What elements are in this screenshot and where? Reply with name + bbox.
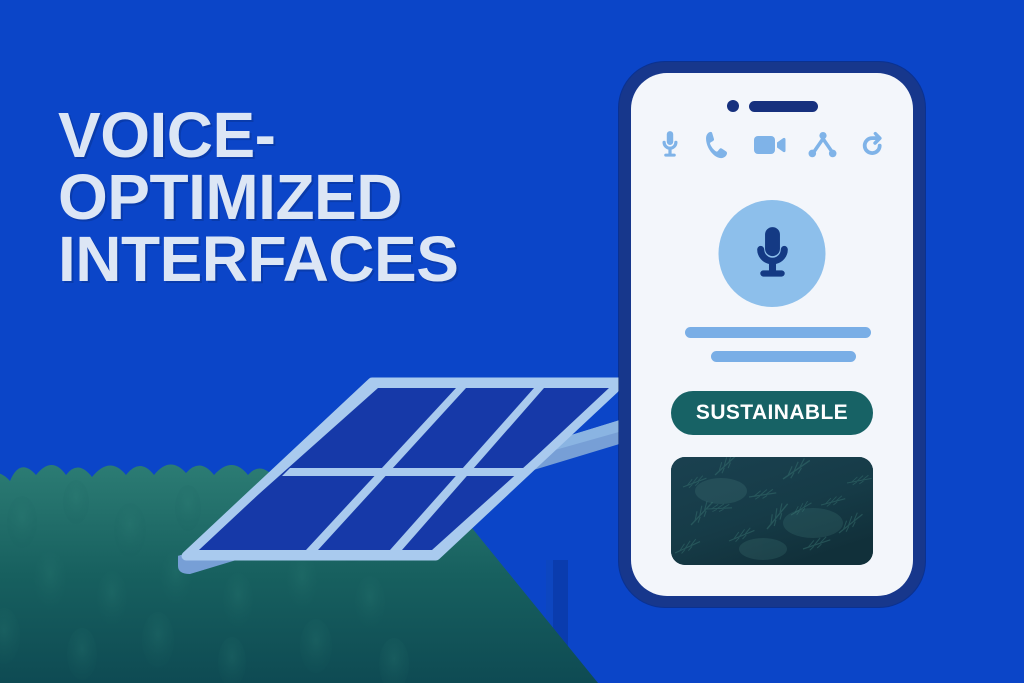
title-line-2: OPTIMIZED <box>58 166 598 228</box>
microphone-icon <box>747 225 797 283</box>
sustainable-pill-label: SUSTAINABLE <box>696 401 848 425</box>
text-line-1 <box>685 327 871 338</box>
foliage-image-card[interactable] <box>671 457 873 565</box>
video-camera-icon[interactable] <box>754 133 786 157</box>
app-toolbar <box>631 130 913 160</box>
camera-dot-icon <box>727 100 739 112</box>
text-line-2 <box>711 351 856 362</box>
voice-record-button[interactable] <box>719 200 826 307</box>
title-line-3: INTERFACES <box>58 228 598 290</box>
poster-canvas: VOICE- OPTIMIZED INTERFACES <box>0 0 1024 683</box>
phone-call-icon[interactable] <box>705 130 732 160</box>
solar-panel <box>150 360 650 620</box>
microphone-icon[interactable] <box>657 130 683 160</box>
phone-notch <box>631 100 913 112</box>
page-title: VOICE- OPTIMIZED INTERFACES <box>58 104 598 290</box>
refresh-icon[interactable] <box>859 131 887 159</box>
phone-mockup: SUSTAINABLE <box>619 62 925 607</box>
text-placeholders <box>631 327 913 362</box>
phone-screen: SUSTAINABLE <box>631 73 913 596</box>
share-nodes-icon[interactable] <box>808 132 837 158</box>
title-line-1: VOICE- <box>58 104 598 166</box>
sustainable-pill-button[interactable]: SUSTAINABLE <box>671 391 873 435</box>
speaker-slot-icon <box>749 101 818 112</box>
